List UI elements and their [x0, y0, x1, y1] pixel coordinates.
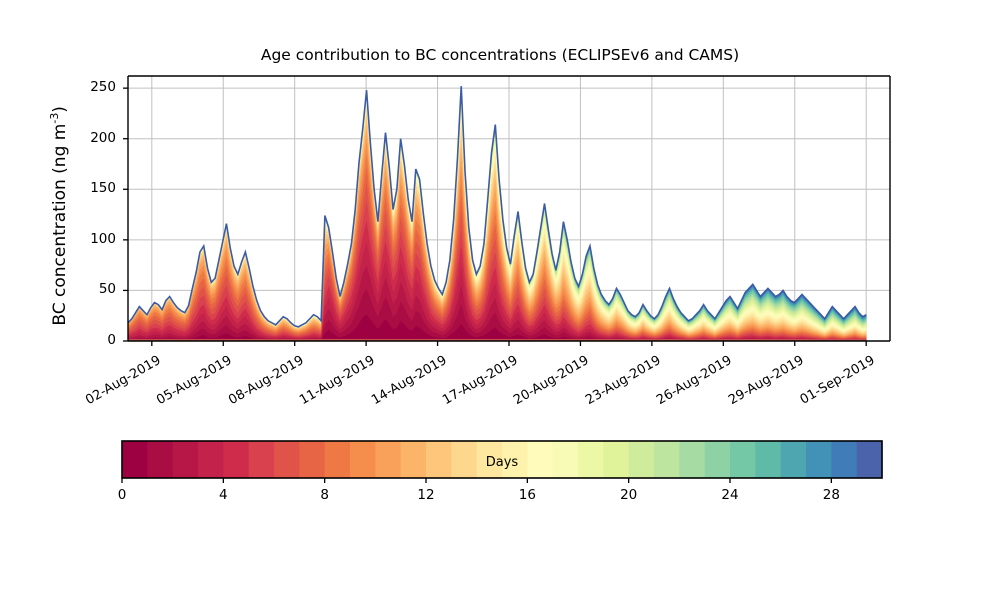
plot-area: [0, 0, 1000, 600]
y-tick-label: 150: [76, 180, 116, 196]
colorbar-segment: [325, 441, 351, 478]
figure-title: Age contribution to BC concentrations (E…: [0, 46, 1000, 64]
y-tick-label: 100: [76, 231, 116, 247]
colorbar-segment: [603, 441, 629, 478]
colorbar-segment: [781, 441, 807, 478]
y-axis-label-prefix: BC concentration (ng m: [50, 124, 70, 326]
colorbar-segment: [806, 441, 832, 478]
colorbar-segment: [147, 441, 173, 478]
colorbar-segment: [705, 441, 731, 478]
figure-canvas: Age contribution to BC concentrations (E…: [0, 0, 1000, 600]
colorbar-tick-label: 16: [507, 487, 547, 503]
y-axis-label-suffix: ): [50, 106, 70, 113]
y-tick-label: 0: [76, 332, 116, 348]
colorbar-segment: [578, 441, 604, 478]
colorbar-tick-label: 20: [609, 487, 649, 503]
colorbar-tick-label: 24: [710, 487, 750, 503]
colorbar-tick-label: 8: [305, 487, 345, 503]
colorbar-segment: [401, 441, 427, 478]
colorbar-segment: [122, 441, 148, 478]
y-axis-label: BC concentration (ng m-3): [48, 71, 70, 361]
colorbar-segment: [375, 441, 401, 478]
y-tick-label: 50: [76, 281, 116, 297]
colorbar-segment: [654, 441, 680, 478]
colorbar-tick-label: 12: [406, 487, 446, 503]
colorbar-segment: [730, 441, 756, 478]
colorbar-tick-label: 4: [203, 487, 243, 503]
colorbar-tick-label: 0: [102, 487, 142, 503]
colorbar-segment: [755, 441, 781, 478]
colorbar-segment: [857, 441, 883, 478]
colorbar-tick-label: 28: [811, 487, 851, 503]
colorbar-segment: [274, 441, 300, 478]
colorbar-segment: [173, 441, 199, 478]
colorbar-segment: [831, 441, 857, 478]
colorbar-segment: [198, 441, 224, 478]
colorbar-segment: [629, 441, 655, 478]
y-tick-label: 200: [76, 130, 116, 146]
colorbar-segment: [679, 441, 705, 478]
colorbar-segment: [553, 441, 579, 478]
colorbar-title: Days: [472, 455, 532, 470]
colorbar-segment: [223, 441, 249, 478]
colorbar-segment: [249, 441, 275, 478]
colorbar-segment: [426, 441, 452, 478]
colorbar-segment: [299, 441, 325, 478]
y-axis-label-exponent: -3: [48, 113, 61, 124]
y-tick-label: 250: [76, 79, 116, 95]
colorbar-segment: [350, 441, 376, 478]
